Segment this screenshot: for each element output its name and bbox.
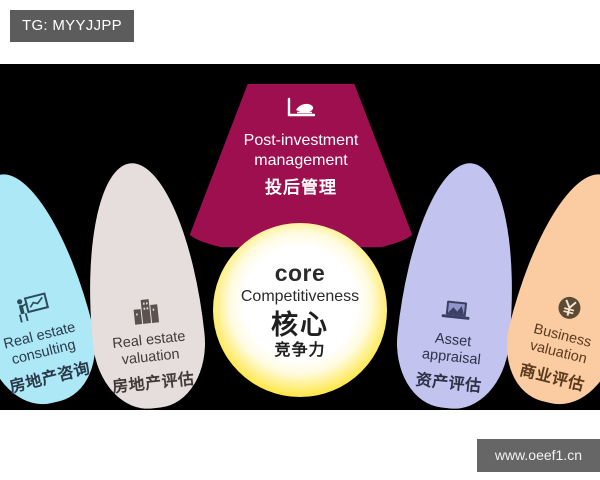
core-label-zh-sub: 竞争力 [274,341,325,361]
petal-content: Asset appraisal 资产评估 [392,291,514,400]
core-label-zh-main: 核心 [271,309,329,341]
petal-label-zh: 资产评估 [392,368,505,400]
petal-real-estate-valuation[interactable]: Real estate valuation 房地产评估 [75,157,212,410]
laptop-icon [438,295,475,328]
petal-content: Real estate valuation 房地产评估 [89,291,211,400]
yen-coin-icon [549,289,589,326]
site-watermark: www.oeef1.cn [477,439,600,472]
buildings-icon [127,295,164,328]
petal-label-en: Asset appraisal [395,327,510,373]
diagram-canvas: Real estate consulting 房地产咨询 Real estate… [0,64,600,410]
petal-label-zh: 房地产评估 [97,368,210,400]
wedge-content: Post-investment management 投后管理 [185,96,417,198]
presenter-chart-icon [12,289,52,326]
petal-content: Business valuation 商业评估 [497,280,600,401]
wedge-label-en: Post-investment management [185,131,417,171]
tg-handle-badge: TG: MYYJJPP [10,10,134,42]
petal-label-en: Real estate valuation [92,327,207,373]
core-label-competitiveness: Competitiveness [241,286,359,307]
wedge-label-zh: 投后管理 [185,178,417,198]
laptop-hand-icon [283,96,319,124]
core-label-core: core [275,260,326,286]
core-circle[interactable]: core Competitiveness 核心 竞争力 [213,223,387,397]
